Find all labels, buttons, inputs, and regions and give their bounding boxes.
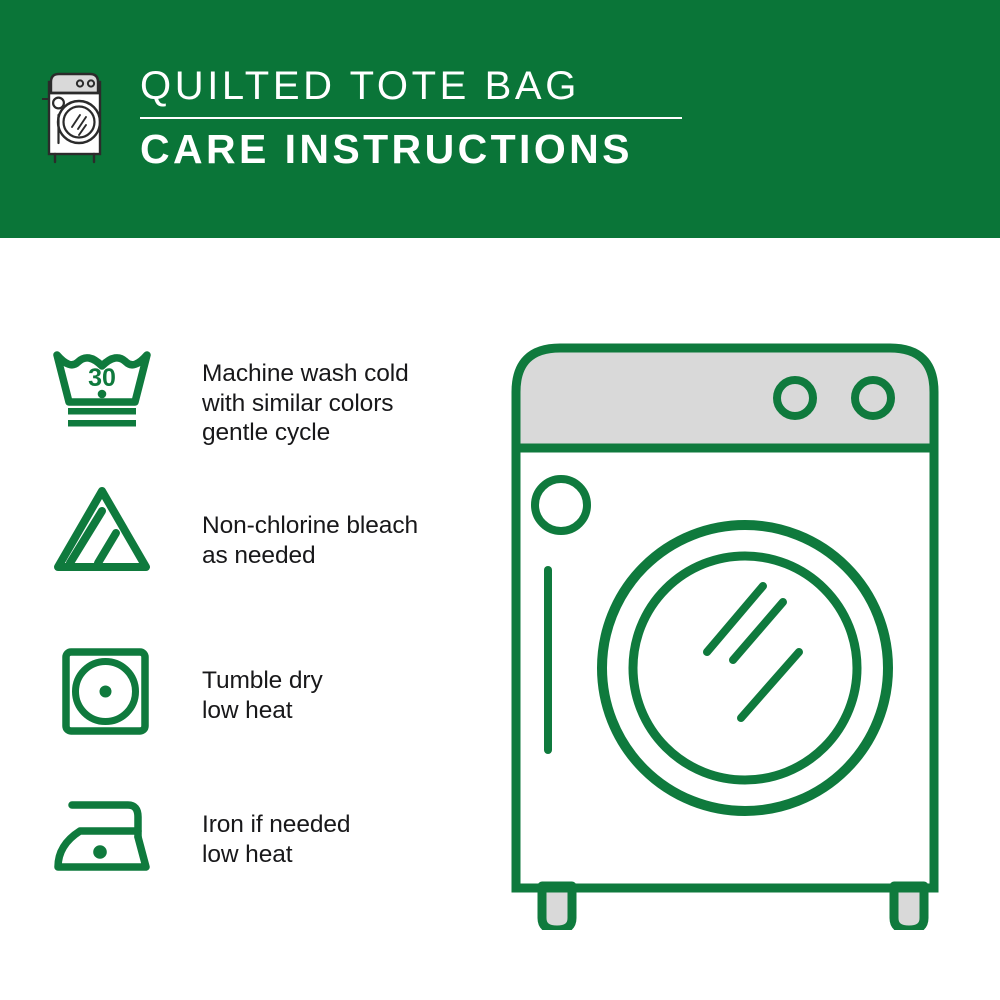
care-item-label: Tumble dry low heat	[202, 666, 323, 725]
care-item-machine-wash: 30 Machine wash cold with similar colors…	[50, 342, 409, 448]
header-titles: QUILTED TOTE BAG CARE INSTRUCTIONS	[138, 62, 682, 173]
page-subtitle: CARE INSTRUCTIONS	[138, 125, 682, 173]
washing-machine-icon	[42, 65, 110, 173]
care-item-label: Machine wash cold with similar colors ge…	[202, 359, 409, 448]
care-item-bleach: Non-chlorine bleach as needed	[50, 483, 418, 575]
title-divider	[140, 117, 682, 119]
care-symbol-wrapper: 30	[50, 342, 158, 434]
care-symbol-wrapper	[50, 483, 158, 575]
care-symbol-wrapper	[50, 793, 158, 879]
care-item-label: Non-chlorine bleach as needed	[202, 511, 418, 570]
care-instruction-list: 30 Machine wash cold with similar colors…	[0, 238, 470, 1000]
leg-left	[542, 886, 572, 930]
care-symbol-wrapper	[50, 642, 158, 740]
page-header: QUILTED TOTE BAG CARE INSTRUCTIONS	[0, 0, 1000, 238]
control-panel	[516, 348, 934, 448]
iron-low-heat-icon	[50, 793, 154, 879]
leg-right	[894, 886, 924, 930]
wash-temperature-label: 30	[88, 364, 116, 392]
care-item-iron: Iron if needed low heat	[50, 793, 350, 879]
header-content: QUILTED TOTE BAG CARE INSTRUCTIONS	[42, 62, 682, 173]
tumble-dry-low-icon	[50, 642, 154, 740]
machine-body	[516, 448, 934, 888]
washing-machine-illustration	[495, 330, 975, 930]
page-title: QUILTED TOTE BAG	[138, 62, 682, 110]
non-chlorine-bleach-icon	[50, 483, 154, 575]
care-item-label: Iron if needed low heat	[202, 810, 350, 869]
machine-wash-30-gentle-icon: 30	[50, 342, 154, 434]
care-item-tumble-dry: Tumble dry low heat	[50, 642, 323, 740]
care-instructions-page: QUILTED TOTE BAG CARE INSTRUCTIONS 30 Ma…	[0, 0, 1000, 1000]
